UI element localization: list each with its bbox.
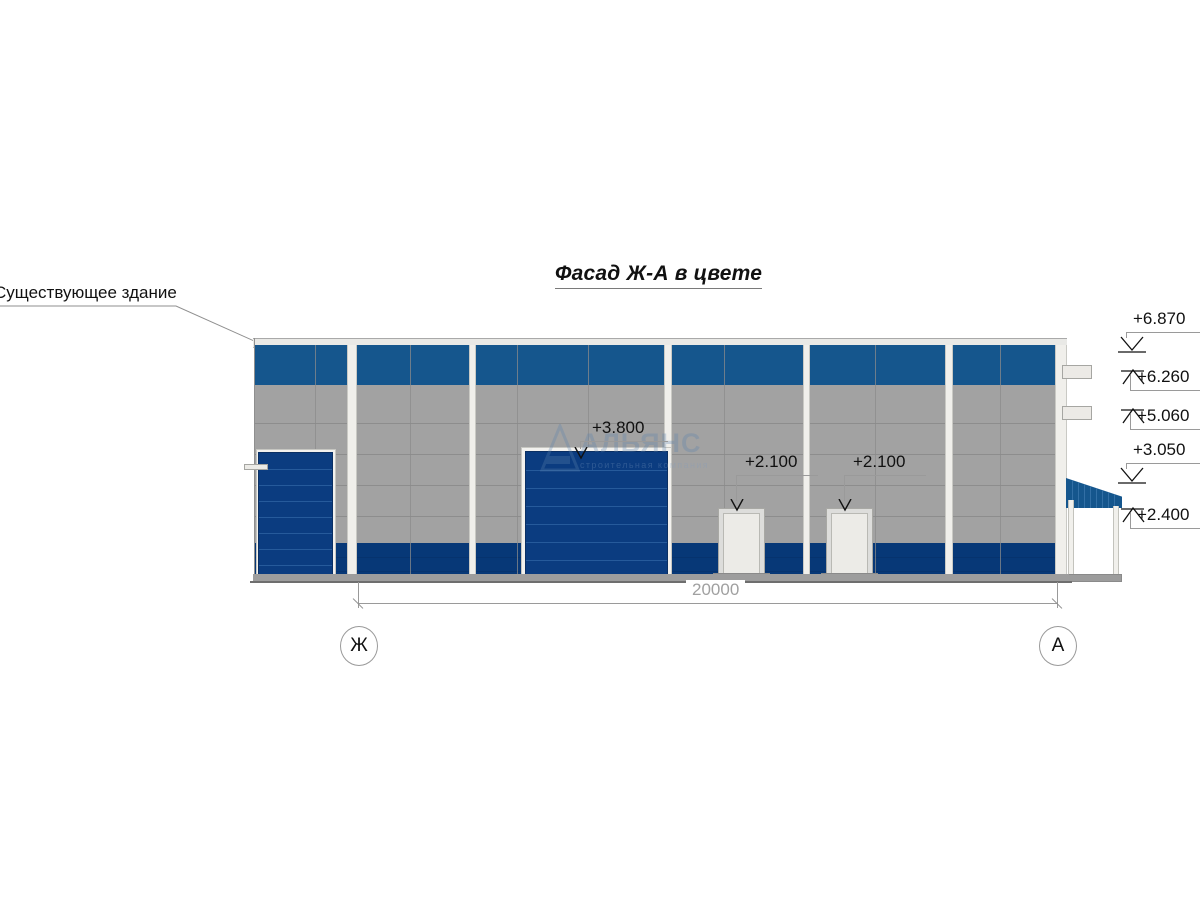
- level-5060-arrow-up-icon: [1120, 407, 1148, 425]
- personnel-door-a[interactable]: [723, 513, 760, 577]
- entrance-canopy-roof: [1066, 478, 1122, 508]
- pilaster-1: [347, 345, 357, 580]
- personnel-door-b[interactable]: [831, 513, 868, 577]
- ground-line: [250, 581, 1072, 583]
- annotation-2100-a-label: +2.100: [745, 452, 797, 472]
- annotation-2100-b-leader-h: [844, 475, 926, 476]
- pilaster-5: [945, 345, 953, 580]
- level-3050-label: +3.050: [1133, 440, 1185, 460]
- page-title: Фасад Ж-А в цвете: [555, 262, 762, 289]
- panel-joint-2: [410, 345, 411, 580]
- wall-vent-upper-icon: [1062, 365, 1092, 379]
- gate-left-door[interactable]: [258, 452, 333, 577]
- level-6870-leader: [1126, 332, 1200, 333]
- level-2400-arrow-up-icon: [1120, 506, 1148, 524]
- canopy-post-left: [1068, 500, 1074, 578]
- level-6870-arrow-down-icon: [1118, 336, 1148, 354]
- annotation-3800-leader-h: [580, 441, 668, 442]
- pilaster-4: [803, 345, 810, 580]
- level-6870-label: +6.870: [1133, 309, 1185, 329]
- annotation-2100-a-leader-h: [736, 475, 818, 476]
- annotation-2100-b-leader-v: [844, 475, 845, 501]
- dimension-line: [358, 603, 1058, 604]
- annotation-2100-a-leader-v: [736, 475, 737, 501]
- dimension-value: 20000: [686, 580, 745, 600]
- level-6260-leader: [1130, 390, 1200, 391]
- canopy-post-right: [1113, 506, 1119, 578]
- panel-joint-3: [517, 345, 518, 580]
- gate-center-door[interactable]: [525, 451, 668, 578]
- annotation-2100-a-arrow-icon: [729, 499, 745, 513]
- panel-joint-7: [1000, 345, 1001, 580]
- annotation-3800-arrow-icon: [573, 447, 589, 461]
- gate-left-handle-detail: [244, 464, 268, 470]
- level-2400-leader: [1130, 528, 1200, 529]
- facade-drawing-canvas: Фасад Ж-А в цвете Существующее здание: [0, 0, 1200, 900]
- level-3050-arrow-down-icon: [1118, 467, 1148, 485]
- level-6260-arrow-up-icon: [1120, 368, 1148, 386]
- pilaster-6: [1055, 345, 1067, 580]
- pilaster-2: [469, 345, 476, 580]
- facade-band-top-blue: [255, 345, 1065, 385]
- wall-vent-lower-icon: [1062, 406, 1092, 420]
- axis-bubble-zh-label: Ж: [350, 635, 368, 657]
- axis-bubble-a[interactable]: А: [1039, 626, 1077, 666]
- level-3050-leader: [1126, 463, 1200, 464]
- ground-plinth: [253, 574, 1069, 581]
- annotation-2100-b-arrow-icon: [837, 499, 853, 513]
- annotation-3800-label: +3.800: [592, 418, 644, 438]
- axis-bubble-a-label: А: [1052, 635, 1065, 657]
- annotation-2100-b-label: +2.100: [853, 452, 905, 472]
- level-5060-leader: [1130, 429, 1200, 430]
- axis-bubble-zh[interactable]: Ж: [340, 626, 378, 666]
